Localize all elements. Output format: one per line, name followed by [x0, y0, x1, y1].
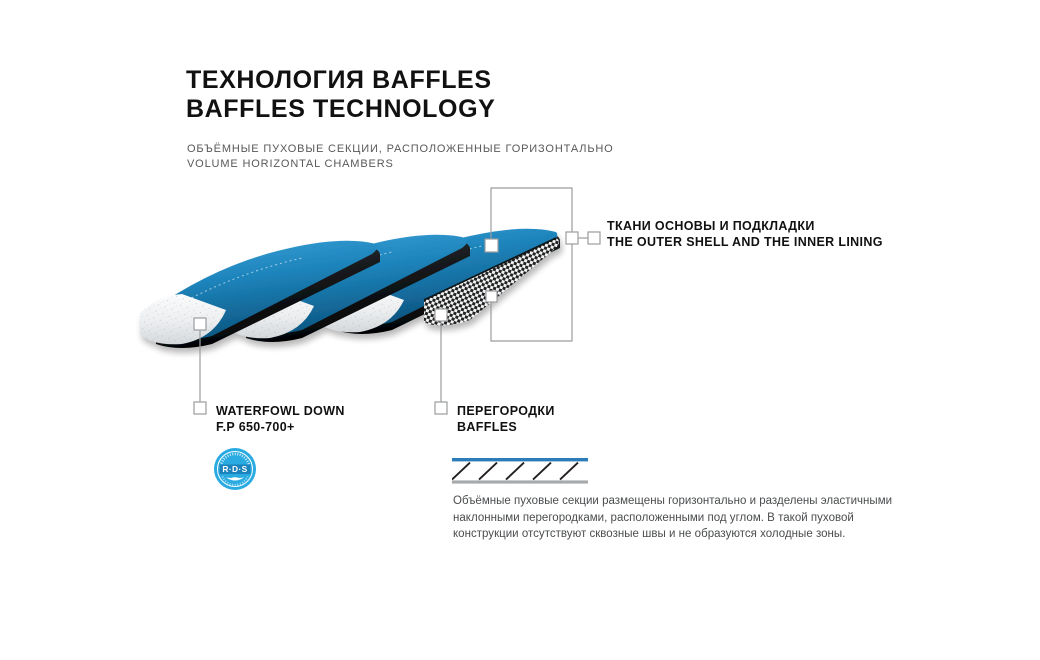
chamber-stack	[140, 229, 560, 348]
rds-badge-text: R·D·S	[222, 464, 247, 474]
callout-baffles-english: BAFFLES	[457, 419, 555, 435]
marker-down-top	[194, 318, 206, 330]
marker-shell-inner	[486, 291, 497, 302]
subtitle-russian: ОБЪЁМНЫЕ ПУХОВЫЕ СЕКЦИИ, РАСПОЛОЖЕННЫЕ Г…	[187, 142, 807, 157]
marker-shell-label	[588, 232, 600, 244]
page-subtitle: ОБЪЁМНЫЕ ПУХОВЫЕ СЕКЦИИ, РАСПОЛОЖЕННЫЕ Г…	[187, 142, 807, 171]
chamber-front	[140, 241, 380, 348]
baffle-diagonal-walls	[452, 463, 578, 480]
callout-leaders	[200, 188, 588, 407]
subtitle-english: VOLUME HORIZONTAL CHAMBERS	[187, 157, 807, 172]
callout-shell-russian: ТКАНИ ОСНОВЫ И ПОДКЛАДКИ	[607, 218, 883, 234]
leader-shell	[491, 188, 588, 341]
baffle-cross-section-diagram	[452, 458, 588, 484]
baffle-top-bar	[452, 458, 588, 461]
baffle-bottom-bar	[452, 480, 588, 483]
marker-shell-outer	[485, 239, 498, 252]
callout-down-fillpower: F.P 650-700+	[216, 419, 345, 435]
description-paragraph: Объёмные пуховые секции размещены горизо…	[453, 493, 923, 543]
rds-certification-badge: R·D·S	[213, 447, 257, 491]
description-line-2: наклонными перегородками, расположенными…	[453, 510, 923, 527]
callout-label-outer-shell: ТКАНИ ОСНОВЫ И ПОДКЛАДКИ THE OUTER SHELL…	[607, 218, 883, 250]
title-english: BAFFLES TECHNOLOGY	[186, 95, 886, 124]
callout-shell-english: THE OUTER SHELL AND THE INNER LINING	[607, 234, 883, 250]
callout-label-waterfowl-down: WATERFOWL DOWN F.P 650-700+	[216, 403, 345, 435]
callout-markers	[194, 232, 600, 414]
title-russian: ТЕХНОЛОГИЯ BAFFLES	[186, 66, 886, 95]
callout-down-title: WATERFOWL DOWN	[216, 403, 345, 419]
marker-baffles-bottom	[435, 402, 447, 414]
chamber-back	[318, 229, 560, 334]
callout-label-baffles: ПЕРЕГОРОДКИ BAFFLES	[457, 403, 555, 435]
page-title: ТЕХНОЛОГИЯ BAFFLES BAFFLES TECHNOLOGY	[186, 66, 886, 124]
description-line-3: конструкции отсутствуют сквозные швы и н…	[453, 526, 923, 543]
callout-baffles-russian: ПЕРЕГОРОДКИ	[457, 403, 555, 419]
description-line-1: Объёмные пуховые секции размещены горизо…	[453, 493, 923, 510]
marker-shell-junction	[566, 232, 578, 244]
chamber-middle	[228, 235, 470, 342]
marker-down-bottom	[194, 402, 206, 414]
page-canvas: ТЕХНОЛОГИЯ BAFFLES BAFFLES TECHNOLOGY ОБ…	[0, 0, 1040, 660]
marker-baffles-top	[435, 309, 447, 321]
